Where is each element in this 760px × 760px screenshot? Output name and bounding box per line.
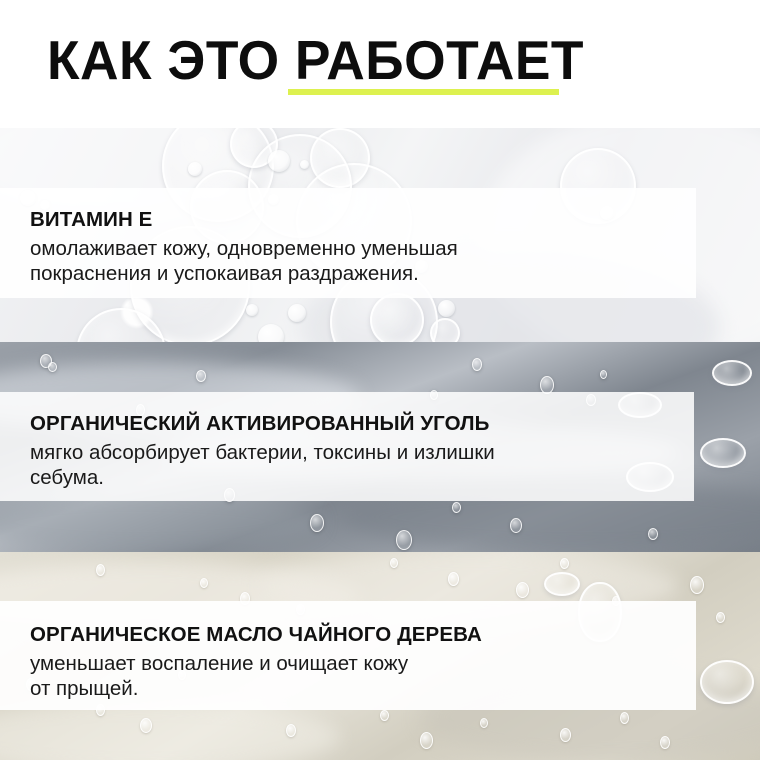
bubble [390,558,398,568]
benefit-panel-tea-tree-oil: ОРГАНИЧЕСКОЕ МАСЛО ЧАЙНОГО ДЕРЕВА уменьш… [0,601,696,710]
bubble [396,530,412,550]
benefit-body: омолаживает кожу, одновременно уменьшая … [30,232,696,286]
gel-streak [0,492,320,552]
bubble [716,612,725,623]
bubble [660,736,670,749]
benefit-panel-activated-charcoal: ОРГАНИЧЕСКИЙ АКТИВИРОВАННЫЙ УГОЛЬ мягко … [0,392,694,501]
infographic-page: КАК ЭТО РАБОТАЕТ ВИТАМИН Е омолаживает к… [0,0,760,760]
bubble [480,718,488,728]
bubble [300,160,309,169]
bubble [600,370,607,379]
bubble [700,438,746,468]
bubble [712,360,752,386]
benefit-panel-vitamin-e: ВИТАМИН Е омолаживает кожу, одновременно… [0,188,696,298]
bubble [438,300,455,317]
benefit-body: мягко абсорбирует бактерии, токсины и из… [30,436,694,490]
bubble [430,318,460,342]
bubble [452,502,461,513]
bubble [188,162,202,176]
bubble [258,324,284,342]
page-title-plain: КАК ЭТО [47,29,295,91]
bubble [140,718,152,733]
bubble [620,712,629,724]
page-title: КАК ЭТО РАБОТАЕТ [47,31,584,89]
bubble [268,150,290,172]
bubble [48,362,57,372]
bubble [246,304,258,316]
bubble [370,293,424,342]
benefit-heading: ОРГАНИЧЕСКИЙ АКТИВИРОВАННЫЙ УГОЛЬ [30,392,694,436]
benefit-body: уменьшает воспаление и очищает кожу от п… [30,647,696,701]
bubble [196,370,206,382]
bubble [472,358,482,371]
bubble [690,576,704,594]
bubble [200,578,208,588]
bubble [648,528,658,540]
header: КАК ЭТО РАБОТАЕТ [0,0,760,128]
benefit-heading: ВИТАМИН Е [30,188,696,232]
bubble [96,564,105,576]
bubble [420,732,433,749]
bubble [560,558,569,569]
bubble [286,724,296,737]
bubble [448,572,459,586]
bubble [510,518,522,533]
page-title-underlined: РАБОТАЕТ [295,29,584,91]
bubble [560,728,571,742]
benefit-heading: ОРГАНИЧЕСКОЕ МАСЛО ЧАЙНОГО ДЕРЕВА [30,601,696,647]
bubble [516,582,529,598]
bubble [310,514,324,532]
bubble [288,304,306,322]
bubble [380,710,389,721]
title-underline-accent [288,89,559,95]
bubble [700,660,754,704]
bubble [544,572,580,596]
